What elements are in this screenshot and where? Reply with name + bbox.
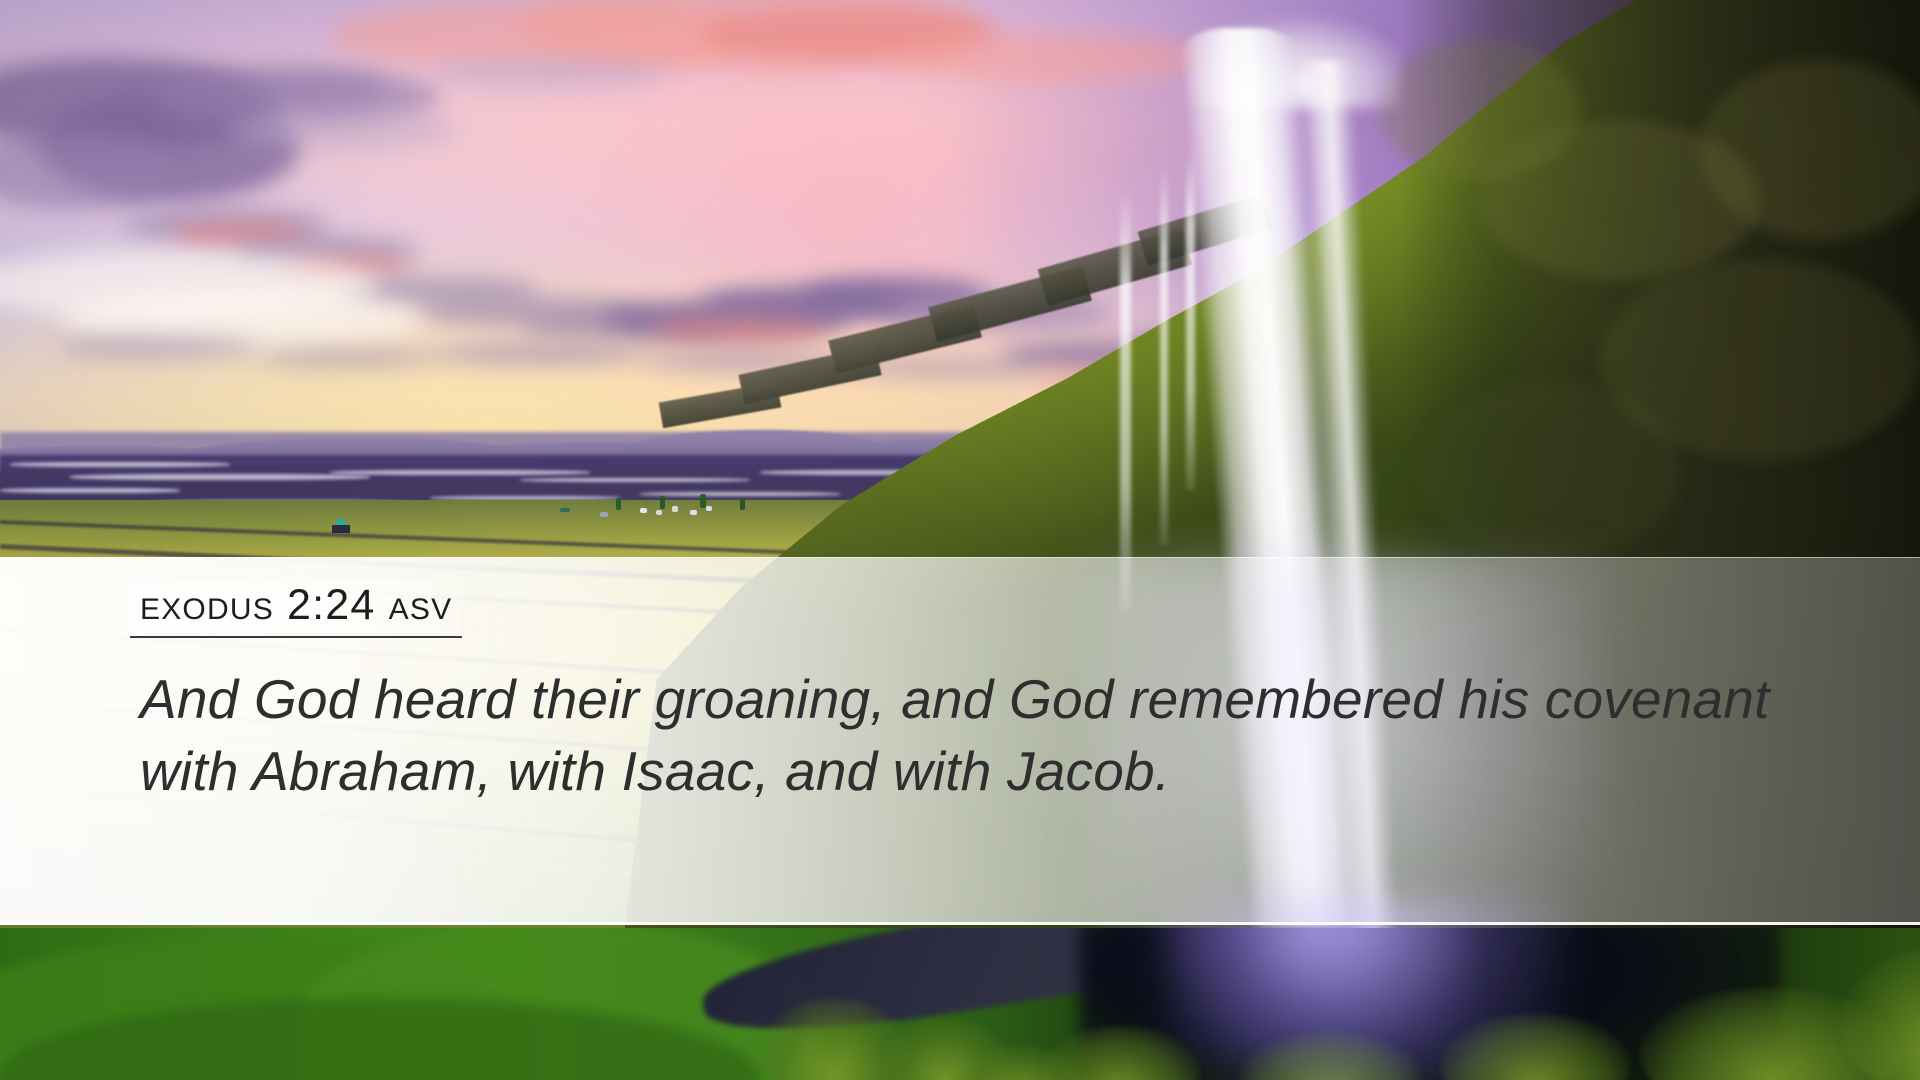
cloud <box>240 74 390 108</box>
cloud <box>60 338 260 356</box>
verse-wallpaper: Exodus 2:24 ASV And God heard their groa… <box>0 0 1920 1080</box>
waterfall-thin-stream <box>1186 150 1195 490</box>
cloud <box>430 56 670 90</box>
cloud <box>230 108 460 152</box>
cloud <box>430 344 650 364</box>
cloud <box>650 318 830 342</box>
verse-block: Exodus 2:24 ASV And God heard their groa… <box>140 580 1860 807</box>
waterfall-thin-stream <box>1120 190 1131 610</box>
waterfall-thin-stream <box>1160 165 1168 545</box>
verse-text: And God heard their groaning, and God re… <box>140 664 1780 807</box>
foreground-meadow <box>0 928 1920 1080</box>
cloud <box>260 350 440 366</box>
farmhouse-body <box>332 525 350 533</box>
plunge-pool-glow <box>1150 900 1570 1080</box>
cloud <box>880 34 1210 82</box>
verse-reference: Exodus 2:24 ASV <box>130 580 462 638</box>
